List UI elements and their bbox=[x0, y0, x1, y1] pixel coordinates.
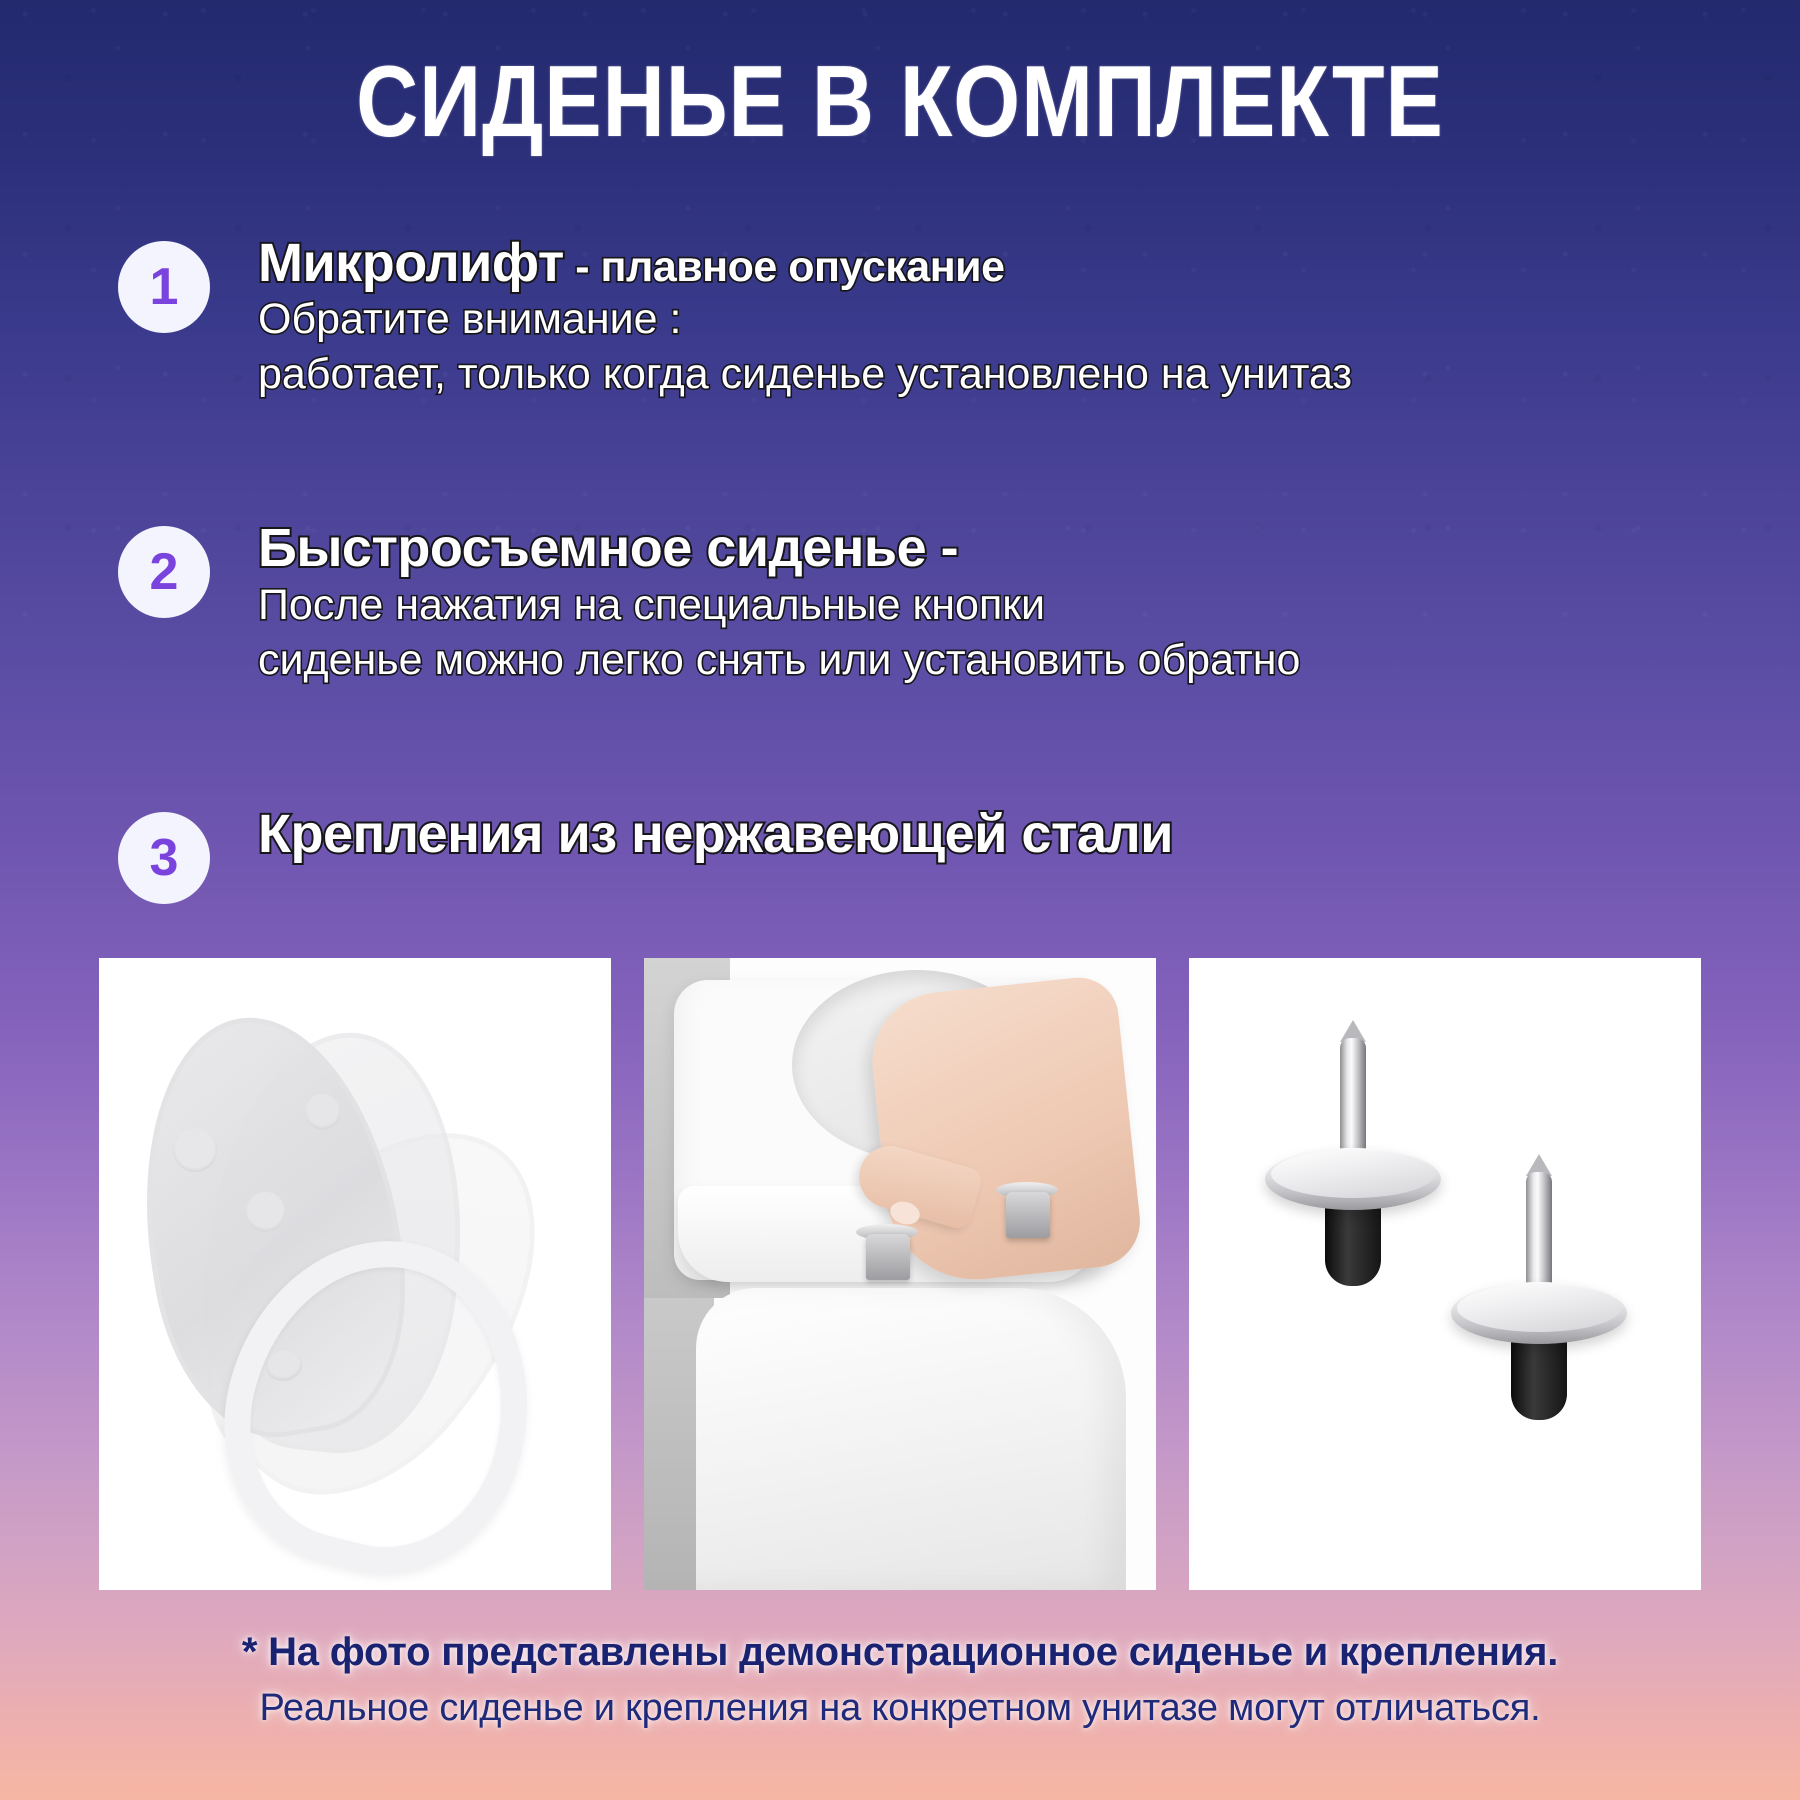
photo-quick-release-button bbox=[644, 958, 1156, 1590]
feature-list: 1 Микролифт - плавное опускание Обратите… bbox=[0, 235, 1800, 904]
feature-line-1-1: Обратите внимание : bbox=[258, 292, 1352, 347]
feature-heading-suffix-1: - плавное опускание bbox=[564, 243, 1005, 291]
feature-line-1-2: работает, только когда сиденье установле… bbox=[258, 347, 1352, 402]
feature-heading-main-1: Микролифт bbox=[258, 233, 564, 293]
feature-text-2: Быстросъемное сиденье - После нажатия на… bbox=[258, 520, 1300, 687]
feature-text-3: Крепления из нержавеющей стали bbox=[258, 806, 1173, 863]
feature-line-2-2: сиденье можно легко снять или установить… bbox=[258, 633, 1300, 688]
photo-stainless-fasteners bbox=[1189, 958, 1701, 1590]
feature-item-3: 3 Крепления из нержавеющей стали bbox=[118, 806, 1800, 904]
fastener-disc-top-left bbox=[1271, 1150, 1435, 1198]
lid-bumper-1 bbox=[170, 1125, 220, 1175]
fastener-pin-left bbox=[1340, 1038, 1366, 1164]
feature-number-badge-2: 2 bbox=[118, 526, 210, 618]
fastener-disc-top-right bbox=[1457, 1284, 1621, 1332]
feature-heading-1: Микролифт - плавное опускание bbox=[258, 235, 1352, 292]
page-title: СИДЕНЬЕ В КОМПЛЕКТЕ bbox=[0, 44, 1800, 161]
photo-soft-close-lid bbox=[99, 958, 611, 1590]
footnote: * На фото представлены демонстрационное … bbox=[0, 1630, 1800, 1730]
fastener-pin-right bbox=[1526, 1172, 1552, 1298]
lid-bumper-3 bbox=[243, 1189, 289, 1235]
toilet-pedestal bbox=[696, 1288, 1126, 1590]
fastener-unit-right bbox=[1451, 1154, 1627, 1454]
footnote-line-2: Реальное сиденье и крепления на конкретн… bbox=[0, 1687, 1800, 1730]
photo-row bbox=[0, 958, 1800, 1590]
fastener-left bbox=[866, 1234, 910, 1280]
feature-heading-main-2: Быстросъемное сиденье - bbox=[258, 518, 958, 578]
fastener-unit-left bbox=[1265, 1020, 1441, 1320]
fastener-right bbox=[1006, 1192, 1050, 1238]
feature-text-1: Микролифт - плавное опускание Обратите в… bbox=[258, 235, 1352, 402]
feature-heading-2: Быстросъемное сиденье - bbox=[258, 520, 1300, 577]
feature-number-badge-1: 1 bbox=[118, 241, 210, 333]
feature-item-2: 2 Быстросъемное сиденье - После нажатия … bbox=[118, 520, 1800, 687]
feature-line-2-1: После нажатия на специальные кнопки bbox=[258, 578, 1300, 633]
footnote-line-1: * На фото представлены демонстрационное … bbox=[0, 1630, 1800, 1675]
feature-number-badge-3: 3 bbox=[118, 812, 210, 904]
feature-heading-3: Крепления из нержавеющей стали bbox=[258, 806, 1173, 863]
lid-bumper-2 bbox=[302, 1091, 343, 1132]
feature-item-1: 1 Микролифт - плавное опускание Обратите… bbox=[118, 235, 1800, 402]
